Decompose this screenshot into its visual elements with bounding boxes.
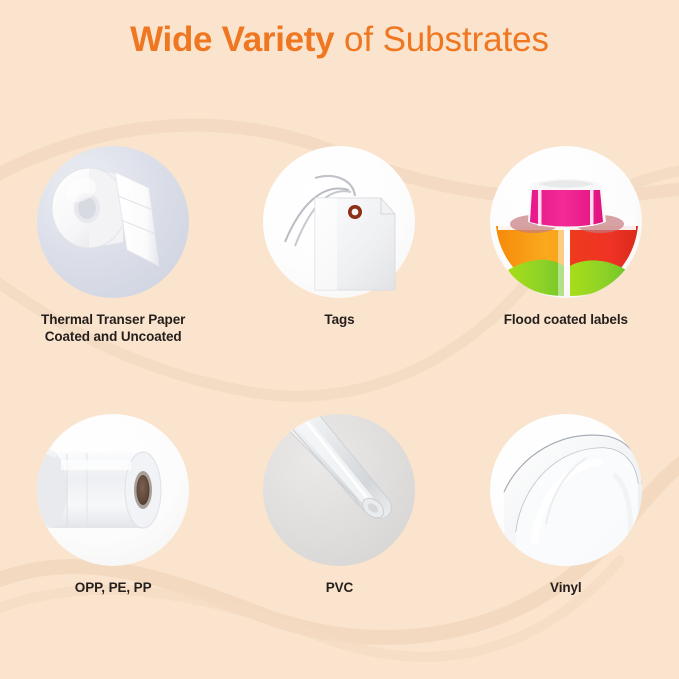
page-title: Wide Variety of Substrates: [0, 22, 679, 57]
substrate-item-tags[interactable]: Tags: [237, 146, 442, 329]
substrate-caption: OPP, PE, PP: [75, 580, 152, 597]
thermal-paper-disc-wrap: [37, 146, 189, 298]
hang-tag-icon: [263, 146, 415, 298]
caption-line-1: Tags: [324, 312, 354, 329]
substrate-caption: Vinyl: [550, 580, 582, 597]
page-title-strong: Wide Variety: [130, 20, 334, 59]
substrate-grid: Thermal Transer Paper Coated and Uncoate…: [0, 146, 679, 597]
vinyl-disc-wrap: [490, 414, 642, 566]
substrate-item-pvc[interactable]: PVC: [237, 414, 442, 597]
caption-line-1: Flood coated labels: [504, 312, 628, 329]
substrates-infographic: Wide Variety of Substrates: [0, 0, 679, 679]
label-roll-icon: [37, 146, 189, 298]
caption-line-2: Coated and Uncoated: [41, 329, 185, 346]
caption-line-1: PVC: [326, 580, 353, 597]
substrate-item-opp-pe-pp[interactable]: OPP, PE, PP: [11, 414, 216, 597]
flood-labels-disc-wrap: [490, 146, 642, 298]
caption-line-1: Thermal Transer Paper: [41, 312, 185, 329]
pvc-disc-wrap: [263, 414, 415, 566]
substrate-caption: Tags: [324, 312, 354, 329]
caption-line-1: OPP, PE, PP: [75, 580, 152, 597]
substrate-caption: Flood coated labels: [504, 312, 628, 329]
substrate-row-top: Thermal Transer Paper Coated and Uncoate…: [0, 146, 679, 346]
caption-line-1: Vinyl: [550, 580, 582, 597]
substrate-item-thermal-transfer-paper[interactable]: Thermal Transer Paper Coated and Uncoate…: [11, 146, 216, 346]
clear-vinyl-film-icon: [490, 414, 642, 566]
tags-disc-wrap: [263, 146, 415, 298]
page-title-light: of Substrates: [334, 20, 549, 59]
substrate-item-vinyl[interactable]: Vinyl: [463, 414, 668, 597]
substrate-caption: Thermal Transer Paper Coated and Uncoate…: [41, 312, 185, 346]
clear-pvc-sheet-icon: [263, 414, 415, 566]
film-roll-icon: [37, 414, 189, 566]
substrate-item-flood-coated-labels[interactable]: Flood coated labels: [463, 146, 668, 329]
substrate-caption: PVC: [326, 580, 353, 597]
fluorescent-label-rolls-icon: [490, 146, 642, 298]
film-roll-disc-wrap: [37, 414, 189, 566]
substrate-row-bottom: OPP, PE, PP: [0, 414, 679, 597]
